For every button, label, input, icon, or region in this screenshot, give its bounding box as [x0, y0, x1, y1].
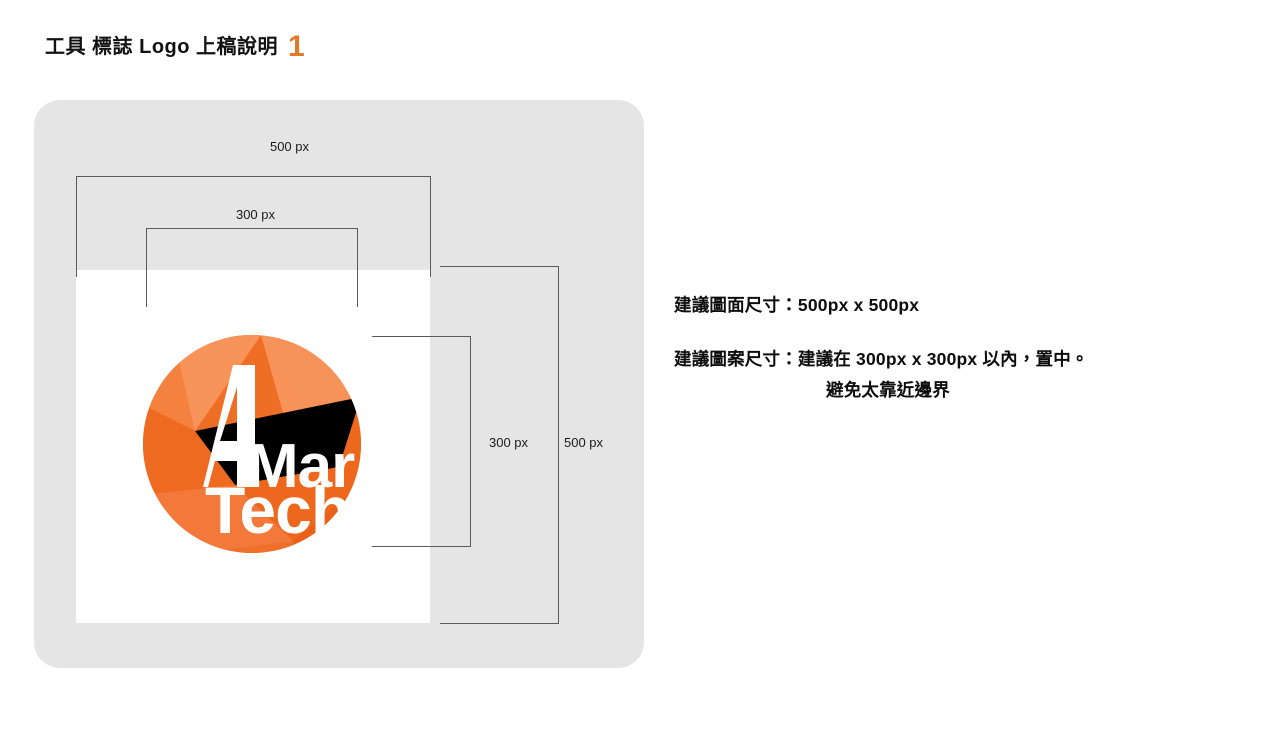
bracket-line-left: [76, 176, 77, 277]
note-canvas-size-line1: 建議圖面尺寸：500px x 500px: [674, 294, 1234, 318]
diagram-panel: 500 px 300 px 300 px 500 px: [34, 100, 644, 668]
dimension-label-top-500: 500 px: [222, 140, 357, 153]
bracket-line-right: [470, 336, 471, 547]
bracket-line-top: [146, 228, 358, 229]
dimension-label-right-300: 300 px: [489, 436, 528, 449]
guidelines-notes: 建議圖面尺寸：500px x 500px 建議圖案尺寸：建議在 300px x …: [674, 294, 1234, 403]
page-title-text: 工具 標誌 Logo 上稿說明: [45, 36, 278, 58]
svg-text:Tech: Tech: [205, 473, 350, 547]
bracket-line-top: [440, 266, 558, 267]
dimension-bracket-top-500: [76, 176, 431, 278]
dimension-label-right-500: 500 px: [564, 436, 603, 449]
note-artwork-size: 建議圖案尺寸：建議在 300px x 300px 以內，置中。 避免太靠近邊界: [674, 348, 1234, 403]
note-artwork-size-line1: 建議圖案尺寸：建議在 300px x 300px 以內，置中。: [674, 348, 1234, 372]
bracket-line-top: [76, 176, 431, 177]
amartech-logo: Mar Tech: [143, 335, 361, 553]
bracket-line-right: [558, 266, 559, 624]
note-canvas-size: 建議圖面尺寸：500px x 500px: [674, 294, 1234, 318]
bracket-line-bottom: [440, 623, 558, 624]
page-step-number: 1: [288, 30, 305, 63]
page-title: 工具 標誌 Logo 上稿說明1: [45, 32, 305, 62]
note-artwork-size-line2: 避免太靠近邊界: [674, 379, 1234, 403]
bracket-line-right: [430, 176, 431, 277]
dimension-label-top-300: 300 px: [188, 208, 323, 221]
